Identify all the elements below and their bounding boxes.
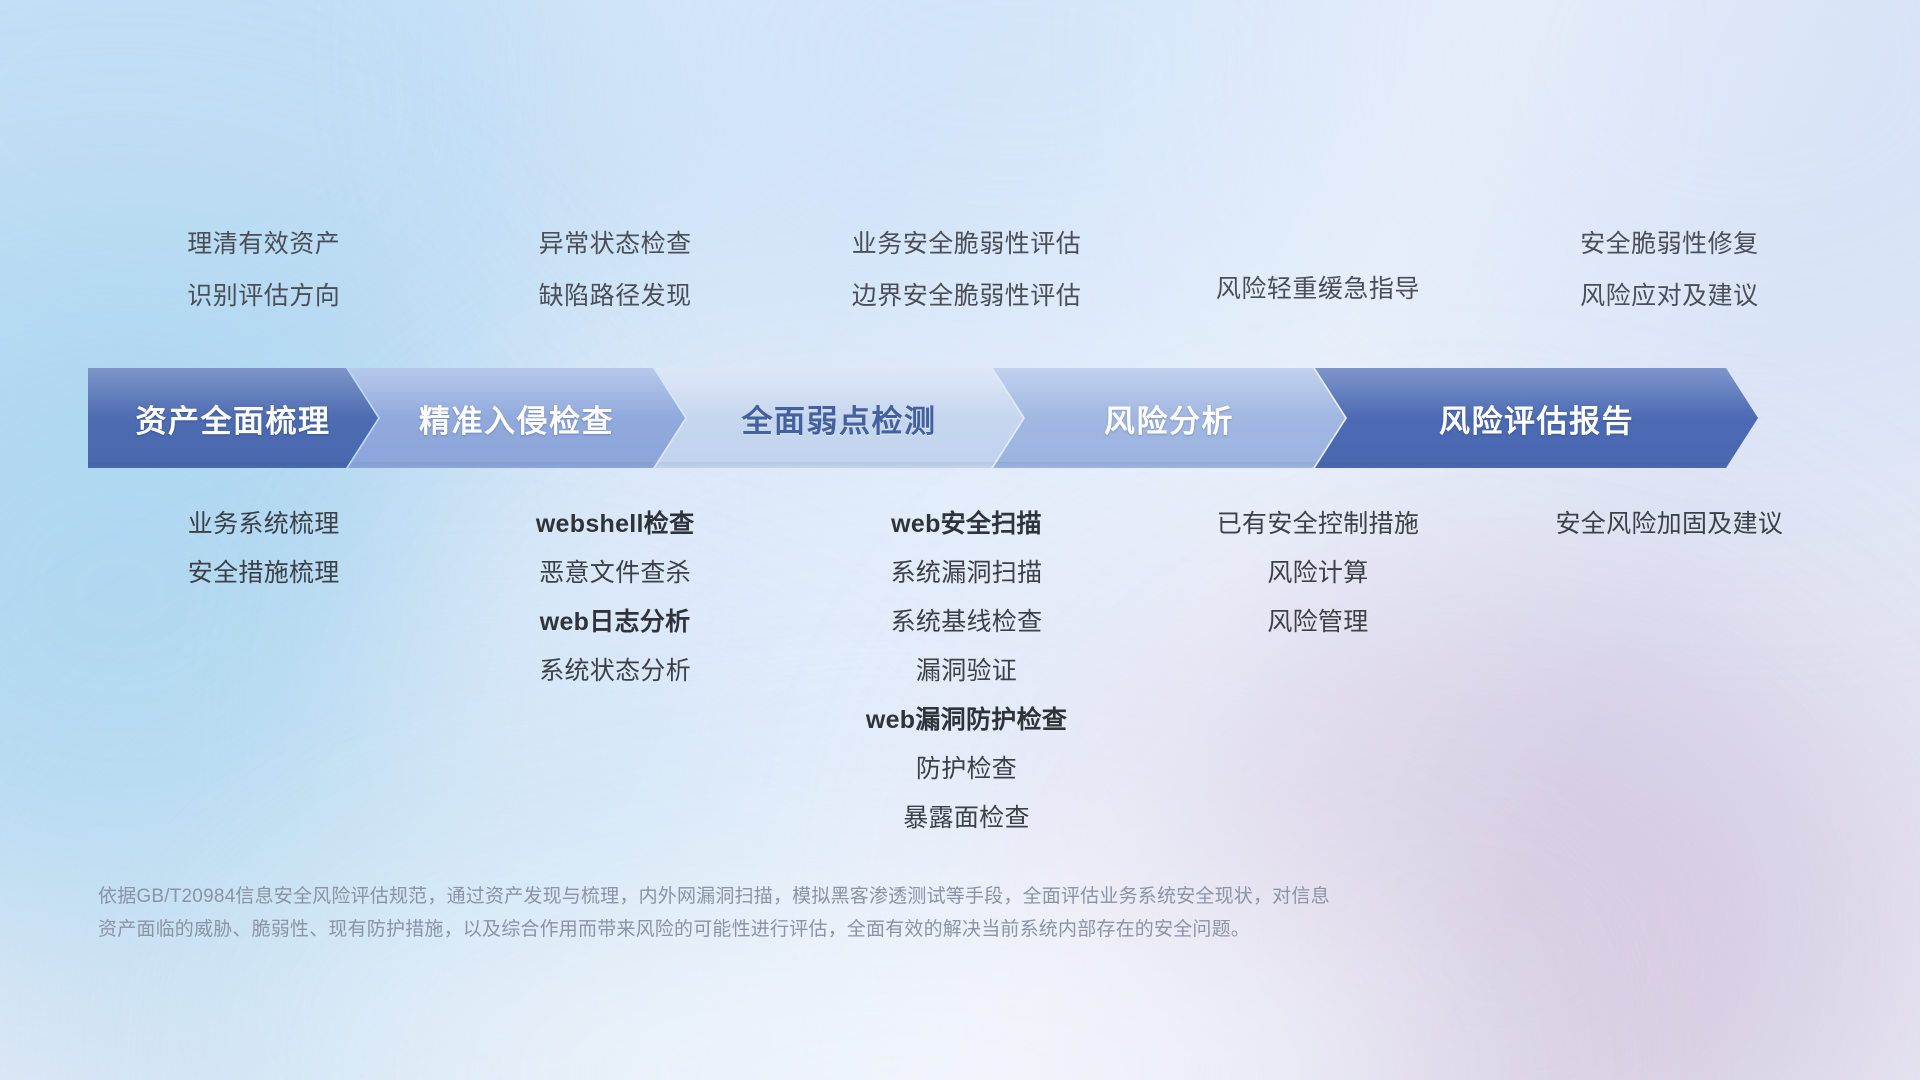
- top-captions-assessment-report: 安全脆弱性修复 风险应对及建议: [1494, 232, 1845, 309]
- list-item: 安全措施梳理: [188, 561, 340, 586]
- list-item: web漏洞防护检查: [866, 708, 1067, 733]
- chevron-stage-asset-inventory[interactable]: 资产全面梳理: [88, 368, 378, 468]
- list-item: 系统状态分析: [539, 659, 691, 684]
- chevron-label: 精准入侵检查: [419, 396, 614, 441]
- chevron-label: 资产全面梳理: [136, 396, 331, 441]
- top-captions-row: 理清有效资产 识别评估方向 异常状态检查 缺陷路径发现 业务安全脆弱性评估 边界…: [88, 232, 1845, 309]
- bottom-items-weakness-detection: web安全扫描 系统漏洞扫描 系统基线检查 漏洞验证 web漏洞防护检查 防护检…: [791, 512, 1142, 831]
- bottom-items-assessment-report: 安全风险加固及建议: [1494, 512, 1845, 831]
- list-item: web安全扫描: [891, 512, 1042, 537]
- list-item: 已有安全控制措施: [1217, 512, 1419, 537]
- list-item: 漏洞验证: [916, 659, 1017, 684]
- chevron-stage-weakness-detection[interactable]: 全面弱点检测: [655, 368, 1023, 468]
- top-caption: 风险轻重缓急指导: [1216, 277, 1420, 302]
- chevron-shadow: [1315, 462, 1758, 468]
- top-captions-intrusion-check: 异常状态检查 缺陷路径发现: [439, 232, 790, 309]
- list-item: 恶意文件查杀: [539, 561, 691, 586]
- process-diagram: 理清有效资产 识别评估方向 异常状态检查 缺陷路径发现 业务安全脆弱性评估 边界…: [0, 0, 1920, 1080]
- chevron-shadow: [348, 462, 685, 468]
- top-caption: 安全脆弱性修复: [1580, 232, 1759, 257]
- list-item: 风险管理: [1267, 610, 1368, 635]
- list-item: 系统基线检查: [891, 610, 1043, 635]
- chevron-shadow: [993, 462, 1345, 468]
- list-item: webshell检查: [536, 512, 695, 537]
- footer-description: 依据GB/T20984信息安全风险评估规范，通过资产发现与梳理，内外网漏洞扫描，…: [98, 880, 1618, 947]
- bottom-items-intrusion-check: webshell检查 恶意文件查杀 web日志分析 系统状态分析: [439, 512, 790, 831]
- top-caption: 业务安全脆弱性评估: [852, 232, 1082, 257]
- chevron-label: 风险评估报告: [1439, 396, 1634, 441]
- top-captions-weakness-detection: 业务安全脆弱性评估 边界安全脆弱性评估: [791, 232, 1142, 309]
- list-item: 安全风险加固及建议: [1555, 512, 1783, 537]
- list-item: 业务系统梳理: [188, 512, 340, 537]
- list-item: 防护检查: [916, 757, 1017, 782]
- process-chevron-band: 资产全面梳理 精准入侵检查 全面弱点检测 风险分析 风险评估报告: [88, 368, 1848, 468]
- list-item: web日志分析: [540, 610, 691, 635]
- chevron-stage-assessment-report[interactable]: 风险评估报告: [1315, 368, 1758, 468]
- chevron-stage-risk-analysis[interactable]: 风险分析: [993, 368, 1345, 468]
- bottom-items-row: 业务系统梳理 安全措施梳理 webshell检查 恶意文件查杀 web日志分析 …: [88, 512, 1845, 831]
- list-item: 风险计算: [1267, 561, 1368, 586]
- top-captions-asset-inventory: 理清有效资产 识别评估方向: [88, 232, 439, 309]
- footer-line-1: 依据GB/T20984信息安全风险评估规范，通过资产发现与梳理，内外网漏洞扫描，…: [98, 880, 1618, 913]
- chevron-shadow: [655, 462, 1023, 468]
- top-caption: 边界安全脆弱性评估: [852, 284, 1082, 309]
- top-caption: 理清有效资产: [187, 232, 340, 257]
- chevron-shadow: [88, 462, 378, 468]
- bottom-items-risk-analysis: 已有安全控制措施 风险计算 风险管理: [1142, 512, 1493, 831]
- footer-line-2: 资产面临的威胁、脆弱性、现有防护措施，以及综合作用而带来风险的可能性进行评估，全…: [98, 913, 1618, 946]
- list-item: 暴露面检查: [903, 806, 1030, 831]
- top-caption: 缺陷路径发现: [539, 284, 692, 309]
- top-captions-risk-analysis: 风险轻重缓急指导: [1142, 232, 1493, 309]
- top-caption: 异常状态检查: [539, 232, 692, 257]
- bottom-items-asset-inventory: 业务系统梳理 安全措施梳理: [88, 512, 439, 831]
- chevron-label: 风险分析: [1104, 396, 1234, 441]
- chevron-label: 全面弱点检测: [742, 396, 937, 441]
- chevron-stage-intrusion-check[interactable]: 精准入侵检查: [348, 368, 685, 468]
- list-item: 系统漏洞扫描: [891, 561, 1043, 586]
- top-caption: 识别评估方向: [187, 284, 340, 309]
- top-caption: 风险应对及建议: [1580, 284, 1759, 309]
